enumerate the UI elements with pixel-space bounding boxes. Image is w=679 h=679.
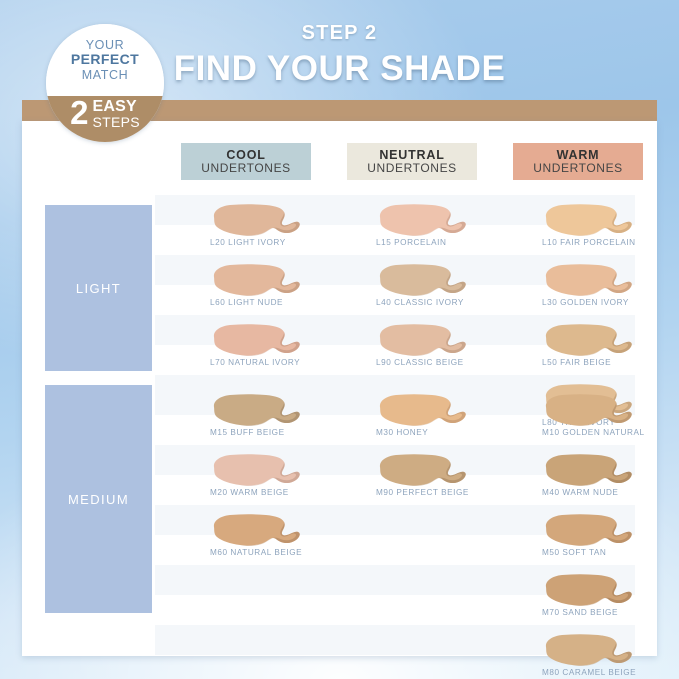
foundation-swatch-icon: [542, 513, 642, 547]
foundation-swatch-icon: [542, 633, 642, 667]
shade-label: L50 FAIR BEIGE: [542, 358, 679, 367]
shade-finder-infographic: STEP 2 FIND YOUR SHADE COOL UNDERTONES N…: [0, 0, 679, 679]
badge-line-1: YOUR: [86, 38, 125, 52]
perfect-match-badge: YOUR PERFECT MATCH 2 EASY STEPS: [46, 24, 164, 142]
badge-words: EASY STEPS: [92, 98, 139, 129]
badge-bottom: 2 EASY STEPS: [46, 96, 164, 142]
shade-cell[interactable]: M10 GOLDEN NATURAL: [528, 393, 679, 451]
shade-label: M10 GOLDEN NATURAL: [542, 428, 679, 437]
shade-label: L10 FAIR PORCELAIN: [542, 238, 679, 247]
shade-cell[interactable]: L10 FAIR PORCELAIN: [528, 203, 679, 261]
shade-cell[interactable]: L50 FAIR BEIGE: [528, 323, 679, 381]
shade-label: M50 SOFT TAN: [542, 548, 679, 557]
foundation-swatch-icon: [542, 393, 642, 427]
foundation-swatch-icon: [376, 323, 476, 357]
shade-cell[interactable]: L20 LIGHT IVORY: [196, 203, 356, 261]
shade-cell[interactable]: L60 LIGHT NUDE: [196, 263, 356, 321]
shade-label: L15 PORCELAIN: [376, 238, 536, 247]
shade-cell[interactable]: M40 WARM NUDE: [528, 453, 679, 511]
shade-label: L90 CLASSIC BEIGE: [376, 358, 536, 367]
shade-cell[interactable]: L15 PORCELAIN: [362, 203, 522, 261]
shade-cell[interactable]: M50 SOFT TAN: [528, 513, 679, 571]
foundation-swatch-icon: [376, 263, 476, 297]
foundation-swatch-icon: [210, 203, 310, 237]
shade-label: L20 LIGHT IVORY: [210, 238, 370, 247]
foundation-swatch-icon: [210, 393, 310, 427]
shade-label: M40 WARM NUDE: [542, 488, 679, 497]
badge-step-number: 2: [70, 98, 88, 128]
foundation-swatch-icon: [542, 323, 642, 357]
foundation-swatch-icon: [376, 203, 476, 237]
shade-label: M20 WARM BEIGE: [210, 488, 370, 497]
shade-label: L30 GOLDEN IVORY: [542, 298, 679, 307]
shade-label: M70 SAND BEIGE: [542, 608, 679, 617]
badge-top: YOUR PERFECT MATCH: [46, 24, 164, 96]
shade-cell[interactable]: M90 PERFECT BEIGE: [362, 453, 522, 511]
foundation-swatch-icon: [210, 453, 310, 487]
shade-label: M30 HONEY: [376, 428, 536, 437]
shade-cell[interactable]: M70 SAND BEIGE: [528, 573, 679, 631]
shade-cell[interactable]: L40 CLASSIC IVORY: [362, 263, 522, 321]
shade-label: L60 LIGHT NUDE: [210, 298, 370, 307]
badge-line-2: PERFECT: [71, 52, 139, 68]
foundation-swatch-icon: [542, 453, 642, 487]
foundation-swatch-icon: [542, 203, 642, 237]
foundation-swatch-icon: [210, 513, 310, 547]
foundation-swatch-icon: [542, 573, 642, 607]
shade-cell[interactable]: L70 NATURAL IVORY: [196, 323, 356, 381]
foundation-swatch-icon: [210, 323, 310, 357]
badge-word-easy: EASY: [92, 99, 139, 115]
shade-cell[interactable]: M30 HONEY: [362, 393, 522, 451]
shade-label: M90 PERFECT BEIGE: [376, 488, 536, 497]
shade-label: M60 NATURAL BEIGE: [210, 548, 370, 557]
shade-label: L70 NATURAL IVORY: [210, 358, 370, 367]
foundation-swatch-icon: [376, 393, 476, 427]
shade-cell[interactable]: M20 WARM BEIGE: [196, 453, 356, 511]
foundation-swatch-icon: [542, 263, 642, 297]
shade-cell[interactable]: M60 NATURAL BEIGE: [196, 513, 356, 571]
shade-label: M80 CARAMEL BEIGE: [542, 668, 679, 677]
shade-label: M15 BUFF BEIGE: [210, 428, 370, 437]
shade-cell[interactable]: M80 CARAMEL BEIGE: [528, 633, 679, 679]
shade-cell[interactable]: L90 CLASSIC BEIGE: [362, 323, 522, 381]
badge-line-3: MATCH: [82, 68, 129, 82]
shade-label: L40 CLASSIC IVORY: [376, 298, 536, 307]
shade-cell[interactable]: M15 BUFF BEIGE: [196, 393, 356, 451]
badge-word-steps: STEPS: [92, 115, 139, 129]
foundation-swatch-icon: [210, 263, 310, 297]
shade-cell[interactable]: L30 GOLDEN IVORY: [528, 263, 679, 321]
foundation-swatch-icon: [376, 453, 476, 487]
